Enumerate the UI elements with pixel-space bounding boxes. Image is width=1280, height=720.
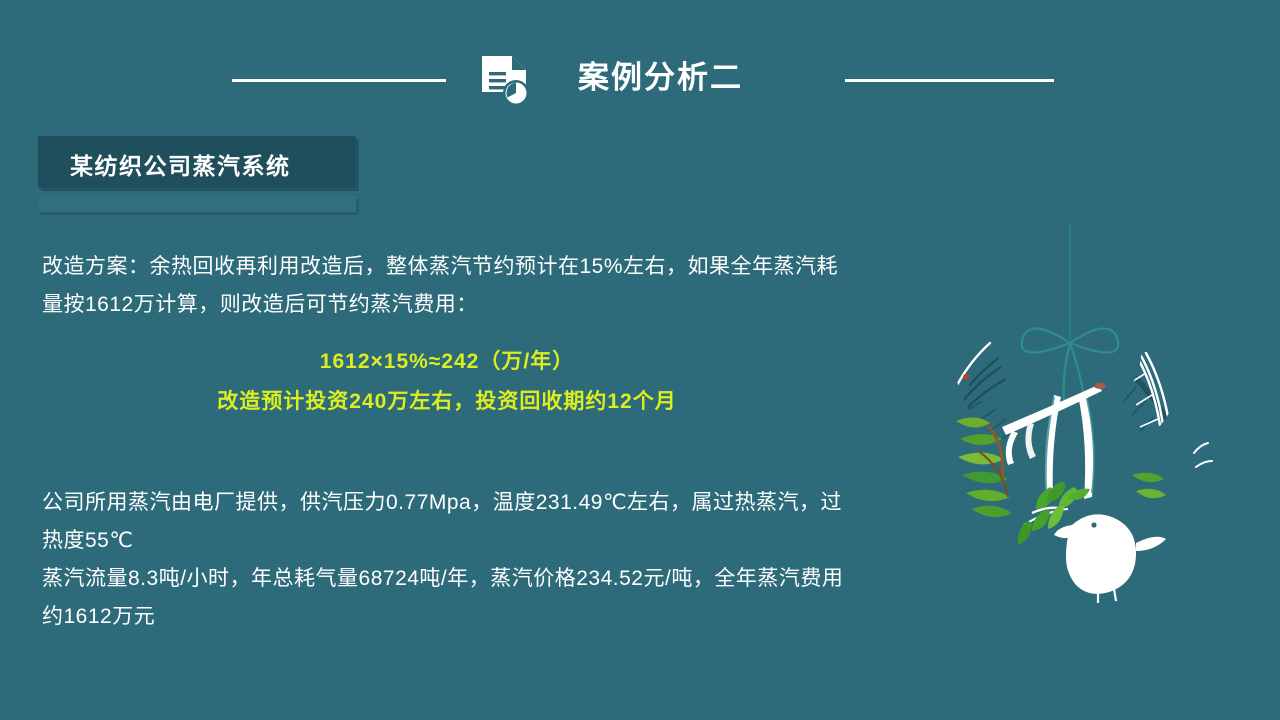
wreath-bird-illustration xyxy=(900,225,1240,650)
plan-paragraph: 改造方案：余热回收再利用改造后，整体蒸汽节约预计在15%左右，如果全年蒸汽耗量按… xyxy=(42,248,852,324)
page-title: 案例分析二 xyxy=(578,56,818,100)
header-rule-right xyxy=(845,79,1054,82)
section-subtitle-box: 某纺织公司蒸汽系统 xyxy=(38,136,356,188)
formula-savings: 1612×15%≈242（万/年） xyxy=(42,345,852,379)
header-rule-left xyxy=(232,79,446,82)
section-subtitle-accent-bar xyxy=(38,196,356,212)
document-chart-icon xyxy=(476,52,534,110)
slide-header: 案例分析二 xyxy=(0,0,1280,120)
section-subtitle-label: 某纺织公司蒸汽系统 xyxy=(70,147,291,181)
steam-flow-paragraph: 蒸汽流量8.3吨/小时，年总耗气量68724吨/年，蒸汽价格234.52元/吨，… xyxy=(42,560,862,636)
steam-detail-paragraph: 公司所用蒸汽由电厂提供，供汽压力0.77Mpa，温度231.49℃左右，属过热蒸… xyxy=(42,484,862,560)
formula-payback: 改造预计投资240万左右，投资回收期约12个月 xyxy=(42,385,852,419)
